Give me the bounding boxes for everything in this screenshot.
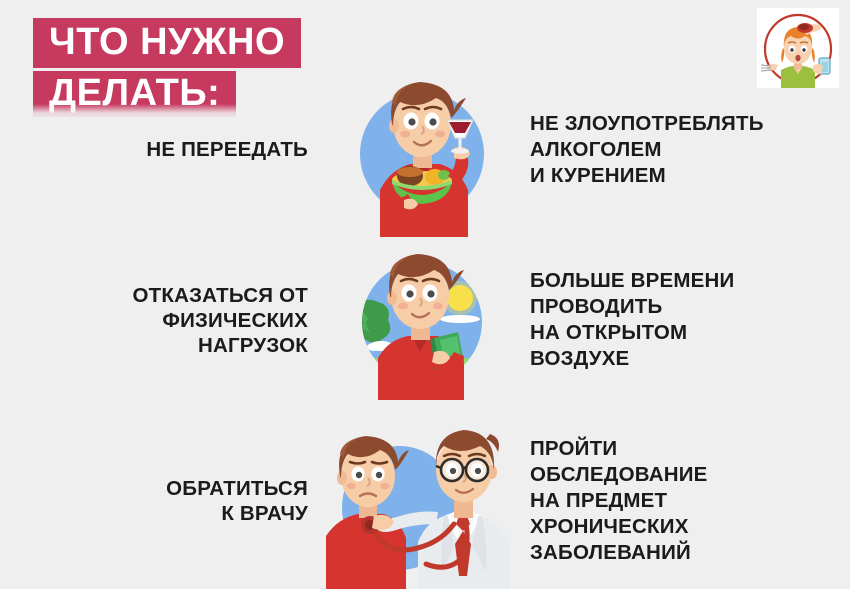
row3-left-label-group: ОБРАТИТЬСЯ К ВРАЧУ: [0, 476, 318, 526]
row1-left-label: НЕ ПЕРЕЕДАТЬ: [0, 137, 308, 162]
row1-right-line1: НЕ ЗЛОУПОТРЕБЛЯТЬ: [530, 111, 850, 137]
row1-right-line3: И КУРЕНИЕМ: [530, 163, 850, 189]
row3-right-line2: ОБСЛЕДОВАНИЕ: [530, 462, 850, 488]
row3-right-line1: ПРОЙТИ: [530, 436, 850, 462]
row3-left-line2: К ВРАЧУ: [0, 501, 308, 526]
row3-right-label: ПРОЙТИ ОБСЛЕДОВАНИЕ НА ПРЕДМЕТ ХРОНИЧЕСК…: [530, 436, 850, 566]
row3-right-label-group: ПРОЙТИ ОБСЛЕДОВАНИЕ НА ПРЕДМЕТ ХРОНИЧЕСК…: [526, 436, 850, 566]
row2-left-label: ОТКАЗАТЬСЯ ОТ ФИЗИЧЕСКИХ НАГРУЗОК: [0, 283, 308, 358]
row2-right-label-group: БОЛЬШЕ ВРЕМЕНИ ПРОВОДИТЬ НА ОТКРЫТОМ ВОЗ…: [526, 268, 850, 372]
row-overeating-alcohol: НЕ ПЕРЕЕДАТЬ: [0, 62, 850, 237]
infographic-poster: ЧТО НУЖНО ДЕЛАТЬ:: [0, 0, 850, 589]
row2-right-line4: ВОЗДУХЕ: [530, 346, 850, 372]
row2-left-line1: ОТКАЗАТЬСЯ ОТ: [0, 283, 308, 308]
row1-right-label-group: НЕ ЗЛОУПОТРЕБЛЯТЬ АЛКОГОЛЕМ И КУРЕНИЕМ: [526, 111, 850, 189]
row1-right-label: НЕ ЗЛОУПОТРЕБЛЯТЬ АЛКОГОЛЕМ И КУРЕНИЕМ: [530, 111, 850, 189]
row1-left-label-group: НЕ ПЕРЕЕДАТЬ: [0, 137, 318, 162]
row3-right-line5: ЗАБОЛЕВАНИЙ: [530, 540, 850, 566]
title-banner-line1: ЧТО НУЖНО: [33, 18, 301, 68]
row2-right-line2: ПРОВОДИТЬ: [530, 294, 850, 320]
man-with-food-bowl-and-wine-glass: [318, 62, 526, 237]
row2-right-line3: НА ОТКРЫТОМ: [530, 320, 850, 346]
row-doctor-checkup: ОБРАТИТЬСЯ К ВРАЧУ: [0, 412, 850, 589]
doctor-examining-patient-with-stethoscope: [318, 412, 526, 589]
row1-left-line1: НЕ ПЕРЕЕДАТЬ: [0, 137, 308, 162]
row2-right-label: БОЛЬШЕ ВРЕМЕНИ ПРОВОДИТЬ НА ОТКРЫТОМ ВОЗ…: [530, 268, 850, 372]
row2-left-label-group: ОТКАЗАТЬСЯ ОТ ФИЗИЧЕСКИХ НАГРУЗОК: [0, 283, 318, 358]
row1-right-line2: АЛКОГОЛЕМ: [530, 137, 850, 163]
row3-right-line4: ХРОНИЧЕСКИХ: [530, 514, 850, 540]
row-physical-outdoors: ОТКАЗАТЬСЯ ОТ ФИЗИЧЕСКИХ НАГРУЗОК: [0, 240, 850, 400]
man-reading-book-outdoors: [318, 240, 526, 400]
row3-right-line3: НА ПРЕДМЕТ: [530, 488, 850, 514]
row2-right-line1: БОЛЬШЕ ВРЕМЕНИ: [530, 268, 850, 294]
row2-left-line3: НАГРУЗОК: [0, 333, 308, 358]
row3-left-line1: ОБРАТИТЬСЯ: [0, 476, 308, 501]
row3-left-label: ОБРАТИТЬСЯ К ВРАЧУ: [0, 476, 308, 526]
row2-left-line2: ФИЗИЧЕСКИХ: [0, 308, 308, 333]
